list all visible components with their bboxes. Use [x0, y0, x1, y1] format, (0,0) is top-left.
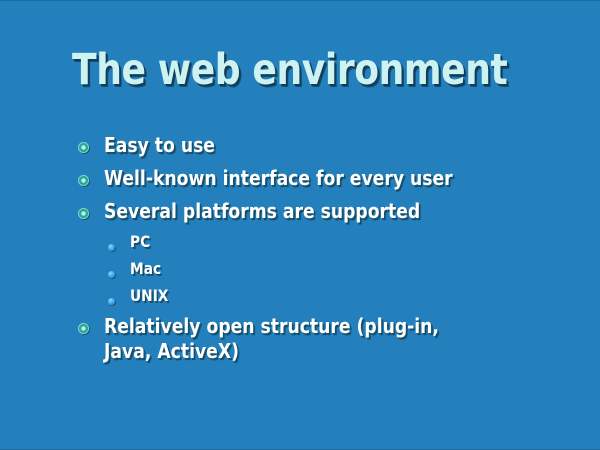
list-item-label: Relatively open structure (plug-in, Java…	[104, 314, 512, 364]
page-title: The web environment	[72, 45, 467, 95]
sub-list-item-label: Mac	[130, 259, 515, 279]
sub-list-item: PC	[78, 232, 578, 254]
sunburst-ring-bullet-icon	[78, 314, 104, 336]
small-dot-bullet-icon	[108, 259, 130, 281]
list-item: Several platforms are supported	[78, 199, 578, 225]
list-item-label: Easy to use	[104, 133, 512, 158]
list-item-label: Well-known interface for every user	[104, 166, 512, 191]
slide-body-list: Easy to use Well-known interface for eve…	[78, 133, 578, 371]
sub-list-item-label: PC	[130, 232, 515, 252]
list-item: Relatively open structure (plug-in, Java…	[78, 314, 578, 364]
sunburst-ring-bullet-icon	[78, 199, 104, 221]
presentation-slide: The web environment Easy to use Well-kno…	[0, 0, 600, 450]
list-item: Well-known interface for every user	[78, 166, 578, 192]
list-item: Easy to use	[78, 133, 578, 159]
sunburst-ring-bullet-icon	[78, 133, 104, 155]
slide-title-block: The web environment	[72, 45, 542, 107]
sub-list-item: Mac	[78, 259, 578, 281]
list-item-label: Several platforms are supported	[104, 199, 512, 224]
sub-list-item: UNIX	[78, 286, 578, 308]
small-dot-bullet-icon	[108, 286, 130, 308]
sub-list: PC Mac UNIX	[78, 232, 578, 308]
sub-list-item-label: UNIX	[130, 286, 515, 306]
sunburst-ring-bullet-icon	[78, 166, 104, 188]
small-dot-bullet-icon	[108, 232, 130, 254]
